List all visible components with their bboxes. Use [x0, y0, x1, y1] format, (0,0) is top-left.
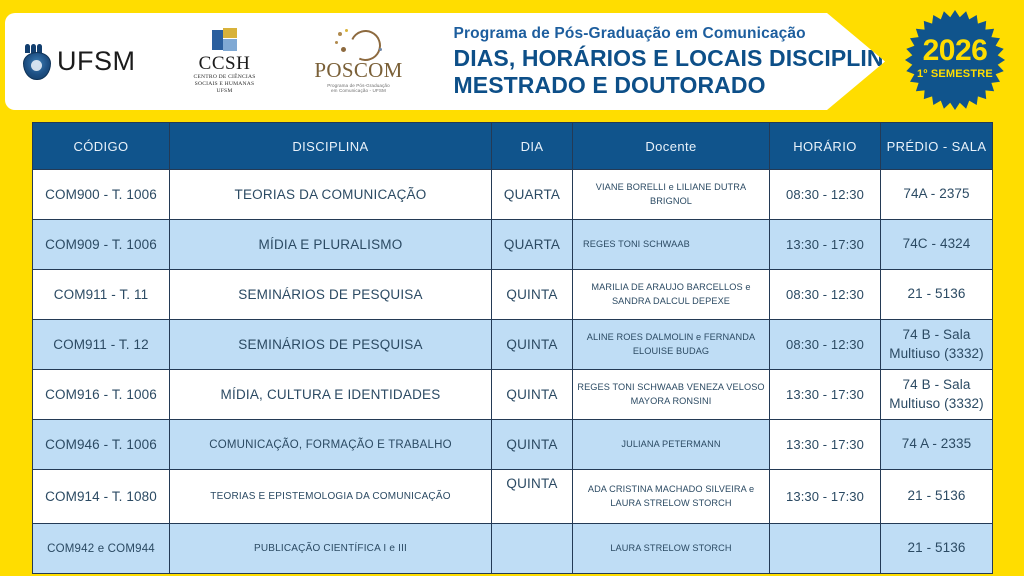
cell-horario: 13:30 - 17:30: [770, 220, 881, 270]
semester-badge: 2026 1º SEMESTRE: [903, 8, 1007, 112]
cell-sala: 74 A - 2335: [881, 420, 993, 470]
cell-codigo: COM946 - T. 1006: [33, 420, 170, 470]
poscom-mark-icon: [335, 29, 383, 59]
cell-sala: 21 - 5136: [881, 524, 993, 574]
cell-dia: QUINTA: [492, 420, 573, 470]
cell-sala: 21 - 5136: [881, 270, 993, 320]
table-row: COM909 - T. 1006 MÍDIA E PLURALISMO QUAR…: [33, 220, 993, 270]
cell-dia: QUARTA: [492, 220, 573, 270]
logo-group: UFSM CCSH CENTRO DE CIÊNCIAS SOCIAIS E H…: [5, 28, 414, 95]
cell-dia: [492, 524, 573, 574]
column-header-disciplina: DISCIPLINA: [170, 123, 492, 170]
table-row: COM916 - T. 1006 MÍDIA, CULTURA E IDENTI…: [33, 370, 993, 420]
cell-sala: 74 B - Sala Multiuso (3332): [881, 370, 993, 420]
table-row: COM942 e COM944 PUBLICAÇÃO CIENTÍFICA I …: [33, 524, 993, 574]
column-header-docente: Docente: [573, 123, 770, 170]
cell-codigo: COM916 - T. 1006: [33, 370, 170, 420]
cell-docente: MARILIA DE ARAUJO BARCELLOS e SANDRA DAL…: [573, 270, 770, 320]
cell-horario: [770, 524, 881, 574]
table-row: COM911 - T. 12 SEMINÁRIOS DE PESQUISA QU…: [33, 320, 993, 370]
page-title-line1: DIAS, HORÁRIOS E LOCAIS DISCIPLINAS: [454, 45, 916, 72]
cell-docente: LAURA STRELOW STORCH: [573, 524, 770, 574]
column-header-codigo: CÓDIGO: [33, 123, 170, 170]
column-header-sala: PRÉDIO - SALA: [881, 123, 993, 170]
cell-disciplina: TEORIAS E EPISTEMOLOGIA DA COMUNICAÇÃO: [170, 470, 492, 524]
schedule-table: CÓDIGO DISCIPLINA DIA Docente HORÁRIO PR…: [32, 122, 993, 574]
poscom-logo: POSCOM Programa de Pós-Graduação em Comu…: [304, 29, 414, 95]
ccsh-logo: CCSH CENTRO DE CIÊNCIAS SOCIAIS E HUMANA…: [182, 28, 268, 95]
cell-horario: 08:30 - 12:30: [770, 270, 881, 320]
table-row: COM946 - T. 1006 COMUNICAÇÃO, FORMAÇÃO E…: [33, 420, 993, 470]
cell-dia: QUARTA: [492, 170, 573, 220]
cell-docente: JULIANA PETERMANN: [573, 420, 770, 470]
table-row: COM900 - T. 1006 TEORIAS DA COMUNICAÇÃO …: [33, 170, 993, 220]
cell-docente: VIANE BORELLI e LILIANE DUTRA BRIGNOL: [573, 170, 770, 220]
ufsm-wordmark: UFSM: [57, 46, 136, 77]
cell-sala: 74A - 2375: [881, 170, 993, 220]
poster-page: UFSM CCSH CENTRO DE CIÊNCIAS SOCIAIS E H…: [0, 0, 1024, 576]
table-header-row: CÓDIGO DISCIPLINA DIA Docente HORÁRIO PR…: [33, 123, 993, 170]
cell-disciplina: SEMINÁRIOS DE PESQUISA: [170, 320, 492, 370]
poscom-subtitle: Programa de Pós-Graduação em Comunicação…: [304, 83, 414, 95]
cell-docente: ADA CRISTINA MACHADO SILVEIRA e LAURA ST…: [573, 470, 770, 524]
ccsh-wordmark: CCSH: [182, 54, 268, 73]
cell-horario: 13:30 - 17:30: [770, 370, 881, 420]
poscom-wordmark: POSCOM: [304, 60, 414, 81]
badge-semester: 1º SEMESTRE: [903, 68, 1007, 80]
cell-disciplina: MÍDIA E PLURALISMO: [170, 220, 492, 270]
cell-codigo: COM900 - T. 1006: [33, 170, 170, 220]
ccsh-subtitle: CENTRO DE CIÊNCIAS SOCIAIS E HUMANAS UFS…: [182, 74, 268, 95]
cell-codigo: COM911 - T. 12: [33, 320, 170, 370]
cell-codigo: COM942 e COM944: [33, 524, 170, 574]
page-title-line2: MESTRADO E DOUTORADO: [454, 72, 916, 99]
cell-disciplina: PUBLICAÇÃO CIENTÍFICA I e III: [170, 524, 492, 574]
cell-disciplina: MÍDIA, CULTURA E IDENTIDADES: [170, 370, 492, 420]
schedule-table-body: COM900 - T. 1006 TEORIAS DA COMUNICAÇÃO …: [33, 170, 993, 574]
cell-horario: 13:30 - 17:30: [770, 470, 881, 524]
schedule-table-wrapper: CÓDIGO DISCIPLINA DIA Docente HORÁRIO PR…: [32, 122, 992, 574]
cell-disciplina: TEORIAS DA COMUNICAÇÃO: [170, 170, 492, 220]
cell-dia: QUINTA: [492, 470, 573, 524]
cell-docente: ALINE ROES DALMOLIN e FERNANDA ELOUISE B…: [573, 320, 770, 370]
ufsm-logo: UFSM: [23, 44, 136, 78]
cell-dia: QUINTA: [492, 370, 573, 420]
cell-horario: 08:30 - 12:30: [770, 170, 881, 220]
cell-dia: QUINTA: [492, 270, 573, 320]
badge-year: 2026: [903, 34, 1007, 68]
cell-disciplina: COMUNICAÇÃO, FORMAÇÃO E TRABALHO: [170, 420, 492, 470]
cell-horario: 13:30 - 17:30: [770, 420, 881, 470]
cell-codigo: COM911 - T. 11: [33, 270, 170, 320]
cell-sala: 74C - 4324: [881, 220, 993, 270]
column-header-horario: HORÁRIO: [770, 123, 881, 170]
cell-sala: 21 - 5136: [881, 470, 993, 524]
cell-horario: 08:30 - 12:30: [770, 320, 881, 370]
cell-docente: REGES TONI SCHWAAB: [573, 220, 770, 270]
header-panel: UFSM CCSH CENTRO DE CIÊNCIAS SOCIAIS E H…: [5, 13, 885, 110]
cell-codigo: COM909 - T. 1006: [33, 220, 170, 270]
column-header-dia: DIA: [492, 123, 573, 170]
program-kicker: Programa de Pós-Graduação em Comunicação: [454, 25, 916, 43]
header-titles: Programa de Pós-Graduação em Comunicação…: [454, 25, 916, 99]
ccsh-mark-icon: [212, 28, 238, 52]
cell-sala: 74 B - Sala Multiuso (3332): [881, 320, 993, 370]
table-row: COM911 - T. 11 SEMINÁRIOS DE PESQUISA QU…: [33, 270, 993, 320]
cell-codigo: COM914 - T. 1080: [33, 470, 170, 524]
cell-dia: QUINTA: [492, 320, 573, 370]
ufsm-crest-icon: [23, 44, 49, 78]
cell-docente: REGES TONI SCHWAAB VENEZA VELOSO MAYORA …: [573, 370, 770, 420]
table-row: COM914 - T. 1080 TEORIAS E EPISTEMOLOGIA…: [33, 470, 993, 524]
cell-disciplina: SEMINÁRIOS DE PESQUISA: [170, 270, 492, 320]
